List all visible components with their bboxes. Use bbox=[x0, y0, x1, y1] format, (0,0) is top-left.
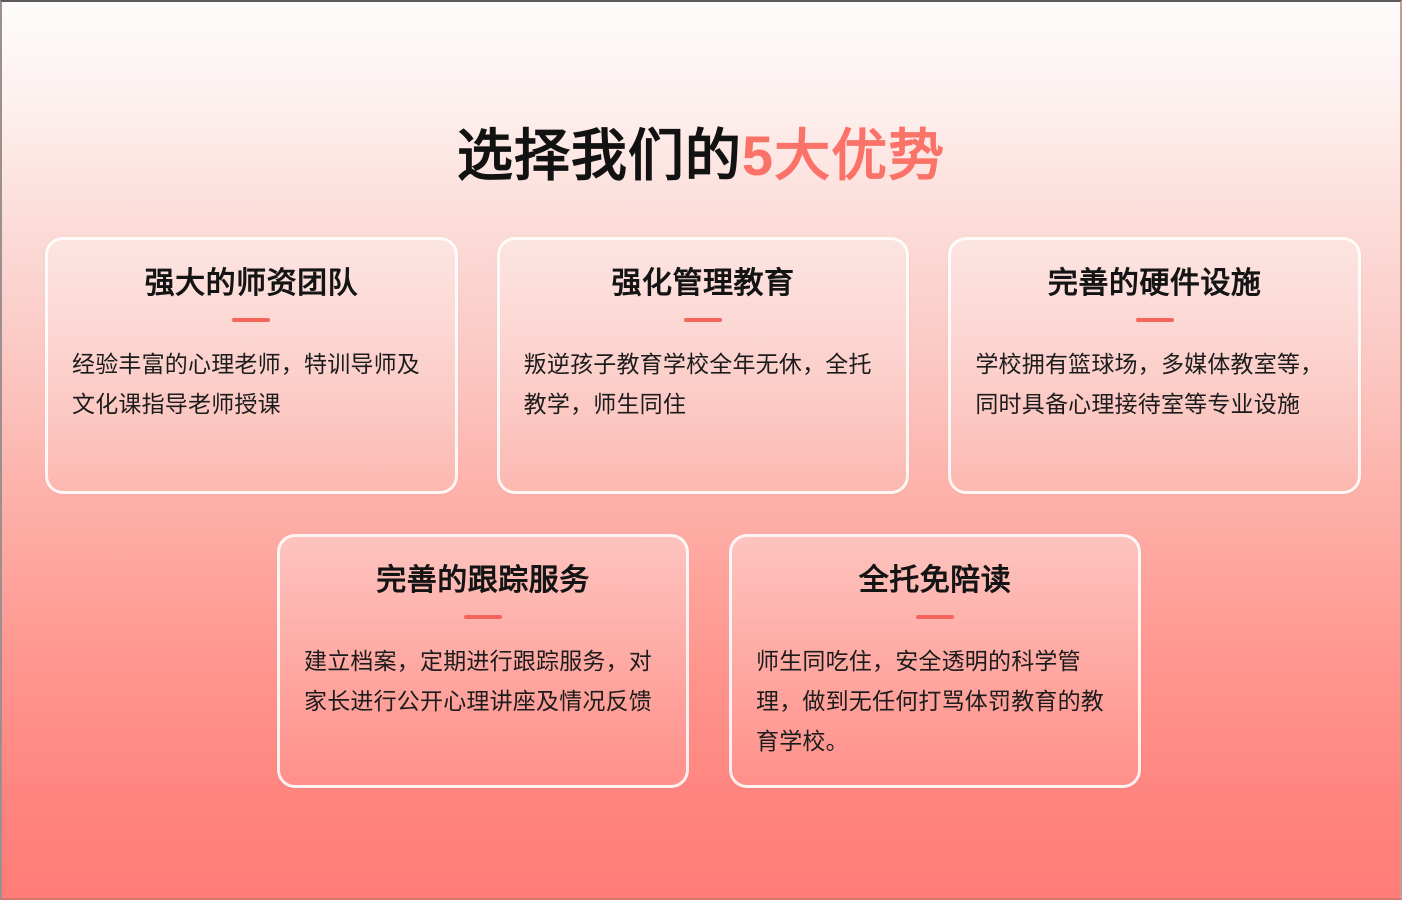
advantage-card-body: 建立档案，定期进行跟踪服务，对家长进行公开心理讲座及情况反馈 bbox=[304, 641, 662, 721]
advantage-card-title: 完善的硬件设施 bbox=[971, 266, 1338, 302]
advantage-card[interactable]: 强大的师资团队 经验丰富的心理老师，特训导师及文化课指导老师授课 bbox=[45, 237, 458, 494]
page-title-dark-segment: 选择我们的 bbox=[457, 124, 742, 187]
advantage-card-body: 经验丰富的心理老师，特训导师及文化课指导老师授课 bbox=[72, 344, 431, 424]
page-title-text: 选择我们的5大优势 bbox=[457, 128, 945, 184]
advantage-card-body: 学校拥有篮球场，多媒体教室等，同时具备心理接待室等专业设施 bbox=[975, 344, 1334, 424]
page-title: 选择我们的5大优势 bbox=[2, 90, 1400, 221]
advantage-card[interactable]: 完善的硬件设施 学校拥有篮球场，多媒体教室等，同时具备心理接待室等专业设施 bbox=[948, 237, 1361, 494]
advantage-card-title: 强化管理教育 bbox=[520, 266, 887, 302]
advantage-card[interactable]: 全托免陪读 师生同吃住，安全透明的科学管理，做到无任何打骂体罚教育的教育学校。 bbox=[729, 534, 1141, 788]
advantage-card-body: 师生同吃住，安全透明的科学管理，做到无任何打骂体罚教育的教育学校。 bbox=[756, 641, 1114, 761]
advantage-card[interactable]: 强化管理教育 叛逆孩子教育学校全年无休，全托教学，师生同住 bbox=[497, 237, 910, 494]
advantage-card-body: 叛逆孩子教育学校全年无休，全托教学，师生同住 bbox=[524, 344, 883, 424]
divider-line bbox=[684, 318, 722, 322]
divider-line bbox=[1136, 318, 1174, 322]
divider-line bbox=[916, 615, 954, 619]
advantage-card[interactable]: 完善的跟踪服务 建立档案，定期进行跟踪服务，对家长进行公开心理讲座及情况反馈 bbox=[277, 534, 689, 788]
advantages-page: 选择我们的5大优势 强大的师资团队 经验丰富的心理老师，特训导师及文化课指导老师… bbox=[0, 0, 1402, 900]
divider-line bbox=[232, 318, 270, 322]
advantage-card-title: 完善的跟踪服务 bbox=[300, 563, 666, 599]
advantage-card-title: 强大的师资团队 bbox=[68, 266, 435, 302]
page-title-accent-segment: 5大优势 bbox=[742, 124, 945, 187]
divider-line bbox=[464, 615, 502, 619]
advantage-card-row-bottom: 完善的跟踪服务 建立档案，定期进行跟踪服务，对家长进行公开心理讲座及情况反馈 全… bbox=[277, 534, 1141, 788]
advantage-card-title: 全托免陪读 bbox=[752, 563, 1118, 599]
advantage-card-row-top: 强大的师资团队 经验丰富的心理老师，特训导师及文化课指导老师授课 强化管理教育 … bbox=[45, 237, 1361, 494]
